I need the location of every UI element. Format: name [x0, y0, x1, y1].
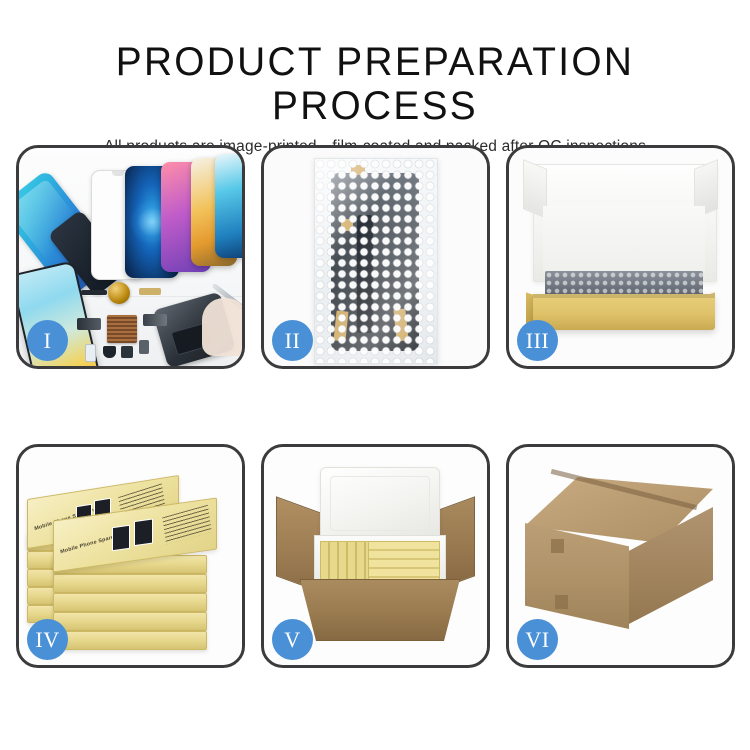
small-component-3: [121, 346, 133, 358]
speaker-coil-part: [108, 282, 130, 304]
plastic-sheen: [315, 159, 437, 363]
stacked-box-f3: [53, 593, 207, 612]
product-preparation-infographic: PRODUCT PREPARATION PROCESS All products…: [0, 0, 750, 750]
retail-boxes-inside-row2: [368, 541, 440, 583]
step-badge-4: IV: [27, 619, 68, 660]
carton-body: [300, 579, 460, 641]
carton-tape-upper: [551, 539, 564, 553]
step-badge-3: III: [517, 320, 558, 361]
technician-hand: [202, 298, 242, 356]
step-badge-2: II: [272, 320, 313, 361]
small-component-4: [139, 340, 149, 354]
process-step-4: Mobile Phone Spare Parts Mobile Phone Sp…: [16, 444, 245, 668]
flex-cable-part-b: [139, 288, 161, 295]
step-badge-5: V: [272, 619, 313, 660]
foam-box-lid: [320, 467, 440, 541]
connector-grid-part: [107, 315, 137, 343]
stacked-box-f2: [53, 574, 207, 593]
stacked-box-f4: [53, 612, 207, 631]
process-step-6: VI: [506, 444, 735, 668]
page-title: PRODUCT PREPARATION PROCESS: [11, 0, 739, 128]
flex-cable-part-c: [143, 314, 167, 326]
box-spec-lines-front: [162, 505, 211, 545]
box-inner-wall: [543, 206, 705, 274]
process-step-5: V: [261, 444, 490, 668]
flex-cable-part-d: [77, 318, 101, 330]
small-component-1: [85, 344, 96, 362]
box-front-yellow: [533, 294, 715, 330]
box-artwork-thumb-d: [134, 518, 153, 546]
process-step-1: I: [16, 145, 245, 369]
flex-cable-part-a: [81, 290, 107, 295]
header: PRODUCT PREPARATION PROCESS All products…: [0, 0, 750, 157]
carton-tape-lower: [555, 595, 568, 609]
box-artwork-thumb-c: [112, 525, 130, 552]
process-step-3: III: [506, 145, 735, 369]
process-step-2: II: [261, 145, 490, 369]
phone-display-cyan: [215, 154, 242, 258]
small-component-2: [103, 346, 116, 358]
process-step-grid: I II: [16, 145, 735, 677]
bubble-wrap-bag: [314, 158, 438, 364]
step-badge-1: I: [27, 320, 68, 361]
step-badge-6: VI: [517, 619, 558, 660]
stacked-box-f5: [53, 631, 207, 650]
